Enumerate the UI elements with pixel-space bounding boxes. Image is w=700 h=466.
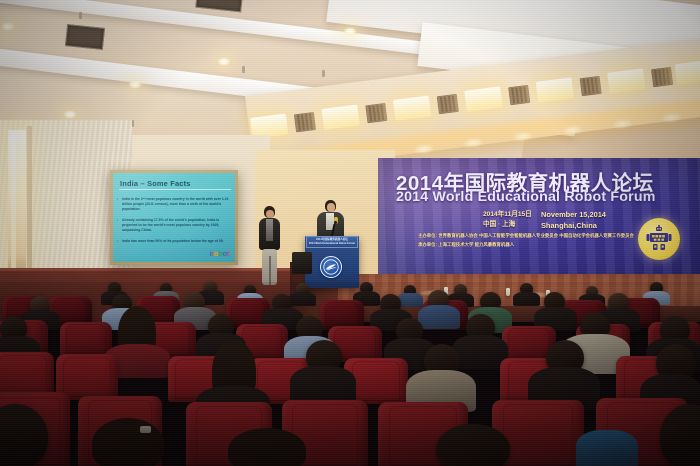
audience-head-foreground	[436, 424, 510, 466]
audience-shoulders	[289, 292, 316, 306]
grille-panel	[651, 67, 673, 87]
grille-panel	[365, 103, 387, 123]
presenter-face	[266, 210, 274, 218]
projector-light-haze	[104, 164, 244, 272]
wall-light-strip-core	[11, 133, 16, 281]
stage-equipment	[292, 252, 312, 274]
podium-sign-text: 2014年国际教育机器人论坛 2014 World Educational Ro…	[307, 238, 357, 246]
stage-backdrop-banner: 2014年国际教育机器人论坛 2014 World Educational Ro…	[378, 158, 700, 276]
audience-long-hair-foreground	[228, 428, 306, 466]
audience-shoulders	[513, 292, 540, 306]
banner-date-chinese: 2014年11月15日 中国 · 上海	[483, 210, 532, 230]
grille-panel	[508, 85, 530, 105]
standing-presenter	[255, 206, 285, 284]
banner-place-en-line: Shanghai,China	[541, 220, 606, 231]
grille-panel	[294, 112, 316, 132]
ceiling-downlight-1	[128, 80, 142, 89]
banner-date-english: November 15,2014 Shanghai,China	[541, 209, 606, 231]
water-bottle	[506, 288, 510, 296]
robot-badge-icon	[638, 218, 680, 260]
ceiling-sprinkler-3	[322, 70, 325, 77]
ceiling-vent-1	[65, 24, 105, 50]
audience-shoulders-foreground	[576, 430, 638, 466]
banner-date-en-line: November 15,2014	[541, 209, 606, 220]
grille-panel	[437, 94, 459, 114]
light-panel	[536, 77, 574, 102]
presenter-leg-gap	[269, 256, 271, 285]
university-emblem-icon	[320, 256, 342, 278]
light-panel	[321, 104, 359, 129]
podium-presenter-face	[327, 203, 335, 212]
banner-date-cn-line: 2014年11月15日	[483, 210, 532, 220]
banner-title-english: 2014 World Educational Robot Forum	[396, 189, 692, 205]
light-panel	[393, 95, 431, 120]
light-strip-frame	[27, 126, 32, 291]
microphone-head-icon	[334, 221, 337, 224]
conference-hall-scene: 2014年国际教育机器人论坛 2014 World Educational Ro…	[0, 0, 700, 466]
light-panel	[675, 60, 700, 85]
podium-sign: 2014年国际教育机器人论坛 2014 World Educational Ro…	[306, 236, 358, 248]
ceiling-downlight-2	[217, 57, 231, 66]
grille-panel	[580, 76, 602, 96]
audience-shoulders	[418, 305, 460, 329]
ceiling-downlight-3	[343, 27, 357, 36]
ceiling-sprinkler-1	[79, 12, 82, 19]
podium-sign-line-2: 2014 World Educational Robot Forum	[307, 242, 357, 246]
ceiling-downlight-4	[63, 110, 77, 119]
ceiling-sprinkler-2	[242, 66, 245, 73]
banner-place-cn-line: 中国 · 上海	[483, 220, 532, 230]
presenter-shirt	[266, 219, 273, 241]
light-panel	[464, 86, 502, 111]
light-panel	[607, 68, 645, 93]
ceiling-downlight-5	[1, 22, 15, 31]
audience-long-hair-foreground	[92, 418, 164, 466]
hair-clip-icon	[140, 426, 151, 433]
